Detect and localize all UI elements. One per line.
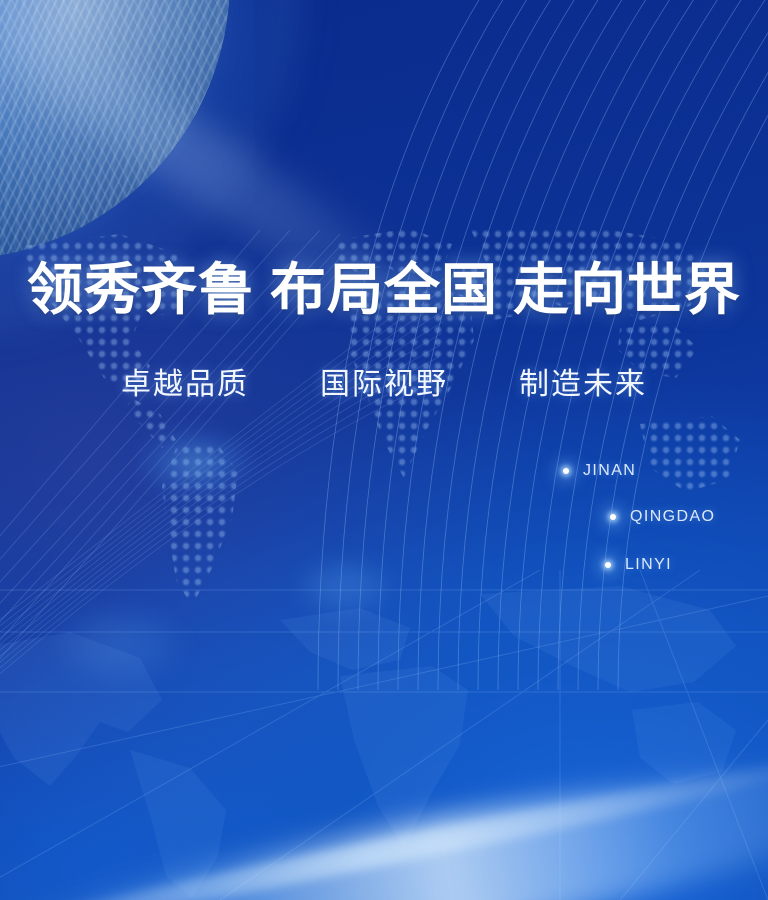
city-label: LINYI	[625, 556, 672, 574]
map-pin-icon	[563, 468, 569, 474]
arc-lines-icon	[258, 0, 768, 690]
city-label: QINGDAO	[630, 508, 715, 526]
light-streak	[0, 745, 768, 900]
map-pin-icon	[605, 562, 611, 568]
page-subtitle: 卓越品质 国际视野 制造未来	[0, 366, 768, 404]
globe-body	[0, 0, 230, 260]
city-marker-jinan[interactable]: JINAN	[563, 462, 636, 480]
globe-cloud-texture	[0, 0, 230, 260]
glow-spot	[60, 610, 180, 680]
city-label: JINAN	[583, 462, 636, 480]
city-marker-linyi[interactable]: LINYI	[605, 556, 672, 574]
glow-spot	[140, 430, 250, 496]
glow-spot	[300, 560, 390, 614]
hero-banner: 领秀齐鲁 布局全国 走向世界 卓越品质 国际视野 制造未来 JINAN QING…	[0, 0, 768, 900]
perspective-grid-icon	[0, 570, 768, 900]
ghost-world-map-icon	[0, 580, 768, 900]
subtitle-part-2: 国际视野	[320, 368, 448, 401]
earth-globe-icon	[0, 0, 230, 260]
city-marker-qingdao[interactable]: QINGDAO	[610, 508, 715, 526]
light-streak	[0, 728, 768, 900]
map-pin-icon	[610, 514, 616, 520]
vignette-overlay	[0, 0, 768, 900]
globe-limb-highlight	[0, 0, 246, 276]
subtitle-part-3: 制造未来	[519, 368, 647, 401]
subtitle-part-1: 卓越品质	[121, 368, 249, 401]
page-title: 领秀齐鲁 布局全国 走向世界	[0, 262, 768, 321]
